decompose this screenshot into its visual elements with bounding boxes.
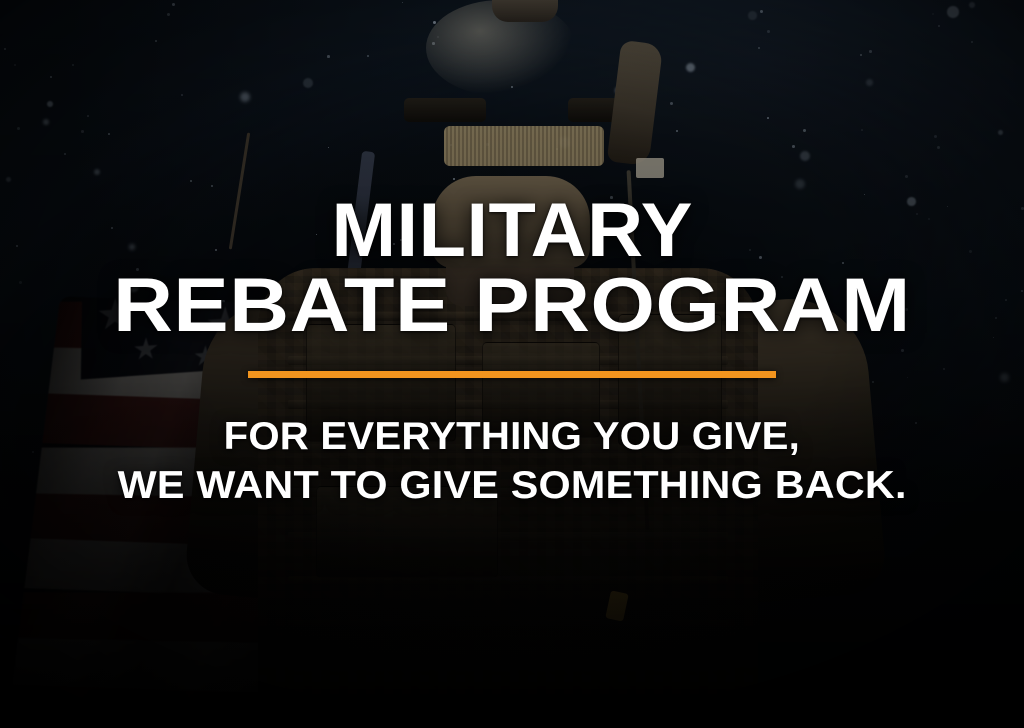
military-rebate-banner: MILITARY REBATE PROGRAM FOR EVERYTHING Y… xyxy=(0,0,1024,728)
subheadline-line-1: FOR EVERYTHING YOU GIVE, xyxy=(224,414,800,459)
headline-line-1: MILITARY xyxy=(331,196,692,266)
subheadline-line-2: WE WANT TO GIVE SOMETHING BACK. xyxy=(117,463,906,508)
orange-divider xyxy=(248,371,776,378)
text-overlay: MILITARY REBATE PROGRAM FOR EVERYTHING Y… xyxy=(0,0,1024,728)
headline-line-2: REBATE PROGRAM xyxy=(113,271,911,341)
